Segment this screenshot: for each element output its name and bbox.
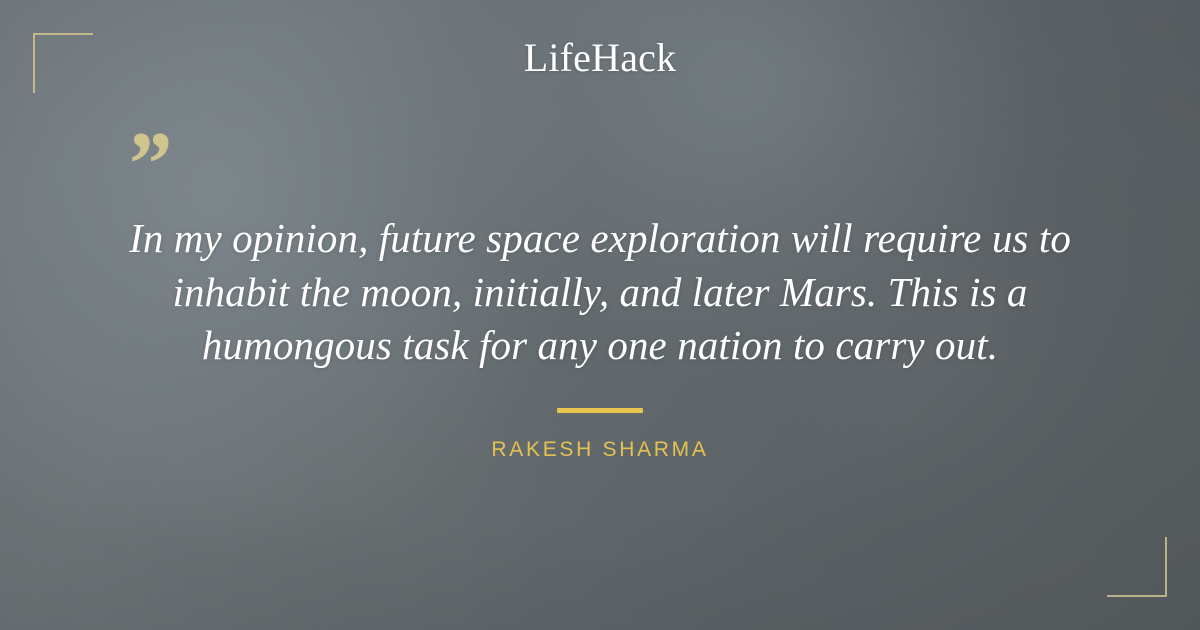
quote-card: LifeHack ” In my opinion, future space e… [0, 0, 1200, 630]
quote-block: In my opinion, future space exploration … [0, 212, 1200, 373]
quotation-mark-icon: ” [124, 118, 170, 210]
corner-bracket-bottom-right-icon [1107, 537, 1167, 597]
quote-author: RAKESH SHARMA [0, 438, 1200, 462]
quote-text: In my opinion, future space exploration … [96, 212, 1104, 373]
brand-logo: LifeHack [0, 36, 1200, 80]
attribution-divider [557, 408, 643, 413]
